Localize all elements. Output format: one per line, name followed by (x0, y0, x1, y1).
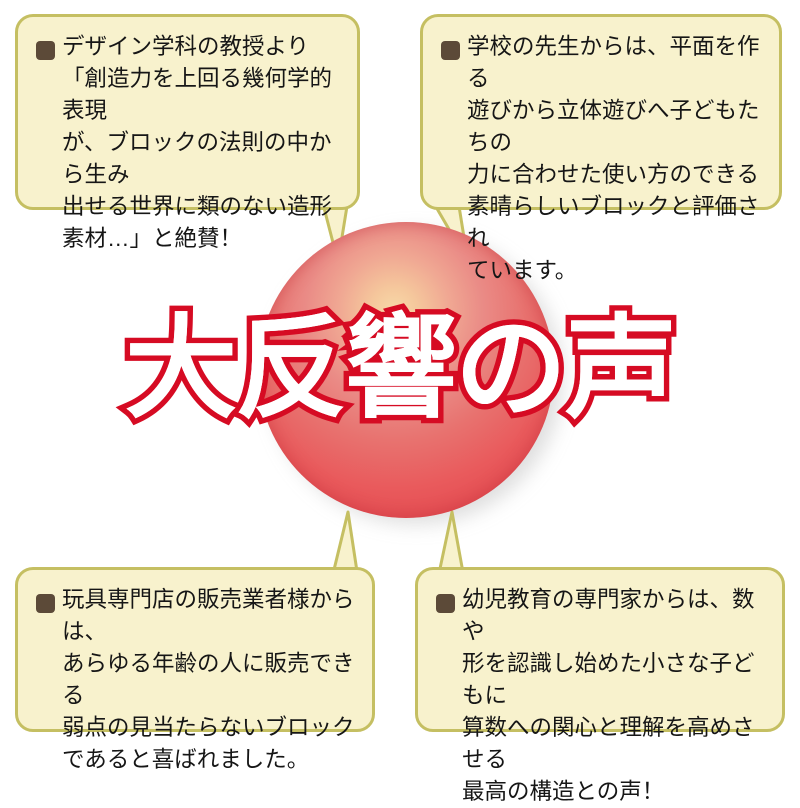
testimonial-text-wrap-bottom-left: 玩具専門店の販売業者様からは、 あらゆる年齢の人に販売できる 弱点の見当たらない… (34, 584, 356, 776)
testimonial-text-wrap-top-right: 学校の先生からは、平面を作る 遊びから立体遊びへ子どもたちの 力に合わせた使い方… (439, 31, 763, 287)
page-title: 大反響の声 (0, 306, 800, 432)
testimonial-text-top-left: デザイン学科の教授より 「創造力を上回る幾何学的表現 が、ブロックの法則の中から… (62, 31, 341, 255)
testimonial-text-bottom-left: 玩具専門店の販売業者様からは、 あらゆる年齢の人に販売できる 弱点の見当たらない… (62, 584, 356, 776)
testimonial-bubble-bottom-right: 幼児教育の専門家からは、数や 形を認識し始めた小さな子どもに 算数への関心と理解… (415, 567, 785, 732)
testimonial-bubble-bottom-left: 玩具専門店の販売業者様からは、 あらゆる年齢の人に販売できる 弱点の見当たらない… (15, 567, 375, 732)
testimonial-bubble-top-left: デザイン学科の教授より 「創造力を上回る幾何学的表現 が、ブロックの法則の中から… (15, 14, 360, 210)
testimonial-text-bottom-right: 幼児教育の専門家からは、数や 形を認識し始めた小さな子どもに 算数への関心と理解… (462, 584, 766, 808)
square-bullet-icon (36, 41, 55, 60)
poster-canvas: 大反響の声 大反響の声 デザイン学科の教授より 「創造力を上回る幾何学的表現 が… (0, 0, 800, 743)
testimonial-text-wrap-bottom-right: 幼児教育の専門家からは、数や 形を認識し始めた小さな子どもに 算数への関心と理解… (434, 584, 766, 808)
square-bullet-icon (36, 594, 55, 613)
testimonial-text-wrap-top-left: デザイン学科の教授より 「創造力を上回る幾何学的表現 が、ブロックの法則の中から… (34, 31, 341, 255)
testimonial-bubble-top-right: 学校の先生からは、平面を作る 遊びから立体遊びへ子どもたちの 力に合わせた使い方… (420, 14, 782, 210)
square-bullet-icon (441, 41, 460, 60)
testimonial-text-top-right: 学校の先生からは、平面を作る 遊びから立体遊びへ子どもたちの 力に合わせた使い方… (467, 31, 763, 287)
square-bullet-icon (436, 594, 455, 613)
